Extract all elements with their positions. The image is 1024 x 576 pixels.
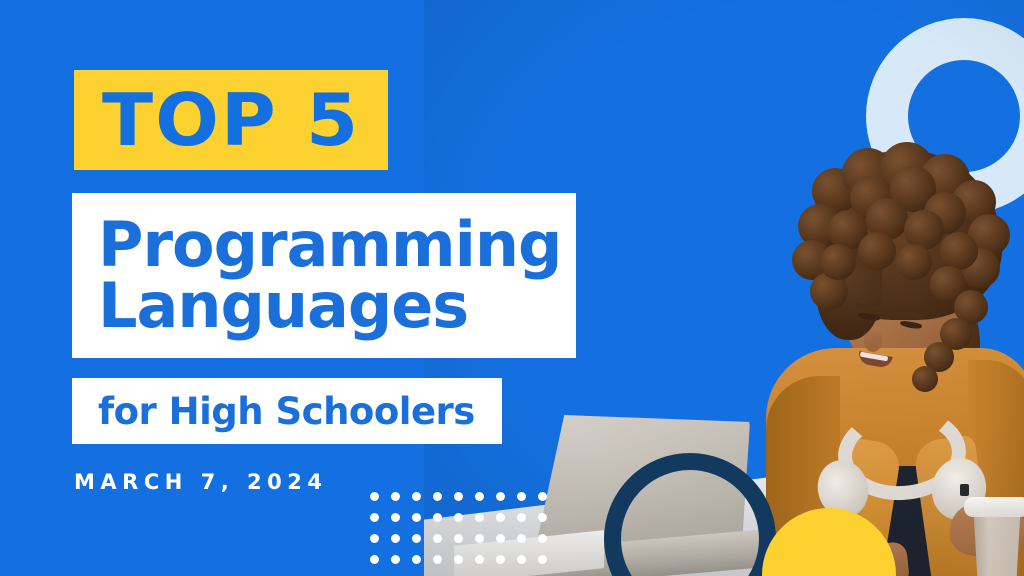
grid-dot (517, 534, 526, 543)
grid-dot (412, 534, 421, 543)
title-line-2: Languages (98, 276, 576, 337)
grid-dot (538, 534, 547, 543)
grid-dot (475, 555, 484, 564)
top5-badge-label: TOP 5 (102, 84, 360, 156)
grid-dot (496, 555, 505, 564)
grid-dot (433, 492, 442, 501)
grid-dot (475, 492, 484, 501)
date-label: MARCH 7, 2024 (74, 470, 327, 494)
grid-dot (538, 513, 547, 522)
grid-dot (370, 534, 379, 543)
dot-grid-pattern (370, 492, 556, 576)
subtitle-label: for High Schoolers (98, 393, 475, 430)
grid-dot (433, 555, 442, 564)
grid-dot (370, 555, 379, 564)
nose (864, 330, 882, 352)
grid-dot (433, 513, 442, 522)
grid-dot (391, 534, 400, 543)
grid-dot (454, 555, 463, 564)
hair-curl (858, 232, 896, 270)
grid-dot (454, 513, 463, 522)
coffee-cup-lid (964, 497, 1024, 517)
grid-dot (538, 555, 547, 564)
hair-curl (940, 232, 978, 270)
subtitle-card: for High Schoolers (72, 378, 502, 444)
grid-dot (496, 492, 505, 501)
headphone-button (960, 484, 969, 496)
top5-badge: TOP 5 (74, 70, 388, 170)
poster-canvas: TOP 5 Programming Languages for High Sch… (0, 0, 1024, 576)
grid-dot (412, 555, 421, 564)
grid-dot (475, 534, 484, 543)
hair-curl (820, 244, 856, 280)
grid-dot (454, 492, 463, 501)
grid-dot (517, 555, 526, 564)
hair-curl (896, 244, 932, 280)
grid-dot (370, 513, 379, 522)
grid-dot (391, 555, 400, 564)
grid-dot (412, 492, 421, 501)
grid-dot (391, 513, 400, 522)
grid-dot (433, 534, 442, 543)
grid-dot (496, 534, 505, 543)
title-card: Programming Languages (72, 193, 576, 358)
grid-dot (538, 492, 547, 501)
grid-dot (517, 492, 526, 501)
grid-dot (412, 513, 421, 522)
grid-dot (475, 513, 484, 522)
grid-dot (517, 513, 526, 522)
title-line-1: Programming (98, 215, 576, 276)
grid-dot (370, 492, 379, 501)
grid-dot (454, 534, 463, 543)
grid-dot (496, 513, 505, 522)
grid-dot (391, 492, 400, 501)
hair-curl (912, 366, 938, 392)
